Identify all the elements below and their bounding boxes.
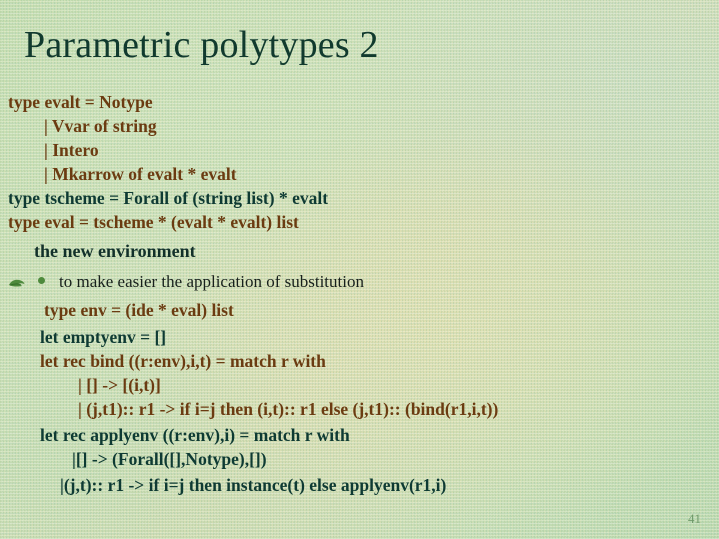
- bullet-item-label: the new environment: [34, 241, 196, 262]
- code-line-1: | Vvar of string: [44, 116, 157, 136]
- code-line-0: type evalt = Notype: [8, 92, 153, 112]
- slide-content: Parametric polytypes 2 type evalt = Noty…: [0, 0, 719, 539]
- presentation-slide: Parametric polytypes 2 type evalt = Noty…: [0, 0, 719, 539]
- code-line-5: |[] -> (Forall([],Notype),[]): [72, 449, 267, 469]
- page-number: 41: [688, 511, 701, 527]
- code-line-6: |(j,t):: r1 -> if i=j then instance(t) e…: [60, 475, 446, 495]
- slide-title: Parametric polytypes 2: [24, 22, 379, 68]
- code-line-1: let rec bind ((r:env),i,t) = match r wit…: [40, 351, 326, 371]
- code-line-2: | [] -> [(i,t)]: [78, 375, 161, 395]
- code-line-4: type tscheme = Forall of (string list) *…: [8, 188, 328, 208]
- code-line-5: type eval = tscheme * (evalt * evalt) li…: [8, 212, 299, 232]
- code-line-4: let rec applyenv ((r:env),i) = match r w…: [40, 425, 350, 445]
- code-line-3: | Mkarrow of evalt * evalt: [44, 164, 237, 184]
- code-line-0: type env = (ide * eval) list: [44, 300, 234, 320]
- bullet-item-to-make-easier: to make easier the application of substi…: [38, 272, 364, 292]
- code-line-0: let emptyenv = []: [40, 327, 166, 347]
- code-line-3: | (j,t1):: r1 -> if i=j then (i,t):: r1 …: [78, 399, 498, 419]
- leaf-bullet-icon: [8, 242, 25, 254]
- bullet-item-the-new-environment: the new environment: [8, 241, 196, 262]
- dot-bullet-icon: [38, 277, 45, 284]
- bullet-item-label: to make easier the application of substi…: [59, 272, 364, 292]
- code-line-2: | Intero: [44, 140, 99, 160]
